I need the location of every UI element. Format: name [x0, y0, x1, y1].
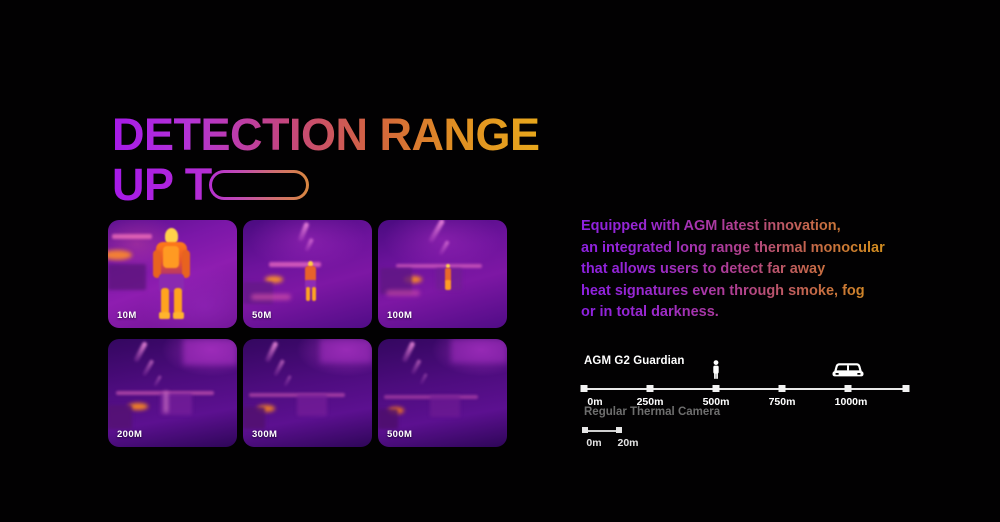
scale-title-regular: Regular Thermal Camera: [584, 406, 784, 418]
scale-tick: [647, 385, 654, 392]
headline-line-2-row: UP T: [112, 162, 542, 208]
cool-slab: [430, 395, 460, 417]
person-chest-hot: [163, 246, 179, 268]
description-line: that allows users to detect far away: [581, 259, 926, 281]
thermal-tile-label: 500M: [387, 429, 412, 440]
cool-slab: [243, 407, 265, 429]
range-value-capsule-inner: [212, 173, 306, 197]
sky-glow: [451, 339, 507, 363]
light-streak: [304, 238, 314, 252]
person-foot-left: [159, 312, 170, 319]
thermal-tile-label: 100M: [387, 310, 412, 321]
person-icon: [710, 360, 722, 384]
light-streak: [410, 359, 421, 375]
thermal-tile-label: 200M: [117, 429, 142, 440]
thermal-tile-label: 50M: [252, 310, 272, 321]
range-value-capsule-icon: [209, 170, 309, 200]
scale-tick-sub-label: 20m: [617, 437, 638, 449]
person-leg-right: [174, 288, 182, 314]
scale-tick: [713, 385, 720, 392]
description-line: or in total darkness.: [581, 302, 926, 324]
light-streak: [428, 220, 445, 244]
person-icon-svg: [710, 360, 722, 379]
description-line: Equipped with AGM latest innovation,: [581, 216, 926, 238]
scale-tick: [581, 385, 588, 392]
car-icon: [831, 359, 865, 384]
vertical-highlight: [164, 391, 168, 413]
scale-tick-sub: [616, 427, 622, 433]
thermal-tile[interactable]: 50M: [243, 220, 372, 328]
light-streak: [264, 341, 278, 363]
scale-ruler-sub-line: [584, 430, 620, 432]
page-headline: DETECTION RANGE UP T: [112, 112, 542, 208]
cool-slab: [297, 394, 327, 416]
thermal-tile-label: 300M: [252, 429, 277, 440]
description-line: heat signatures even through smoke, fog: [581, 281, 926, 303]
detection-range-scale: AGM G2 Guardian: [584, 355, 914, 401]
person-legs: [445, 280, 451, 290]
scale-tick-sub-label: 0m: [586, 437, 601, 449]
thermal-tile-label: 10M: [117, 310, 137, 321]
ground-highlight: [386, 290, 420, 296]
light-streak: [283, 375, 291, 387]
scale-ruler-sub: 0m 20m: [584, 425, 784, 441]
scale-tick: [845, 385, 852, 392]
scale-tick-label: 1000m: [835, 396, 868, 408]
car-icon-svg: [831, 359, 865, 379]
sky-glow: [183, 339, 237, 365]
thermal-tile[interactable]: 500M: [378, 339, 507, 447]
description-paragraph: Equipped with AGM latest innovation, an …: [581, 216, 926, 324]
scale-tick-sub: [582, 427, 588, 433]
cool-slab: [108, 264, 146, 290]
regular-camera-scale: Regular Thermal Camera 0m 20m: [584, 406, 784, 441]
light-streak: [153, 375, 162, 387]
thermal-tile[interactable]: 100M: [378, 220, 507, 328]
person-leg-left: [306, 287, 310, 301]
thermal-tile[interactable]: 300M: [243, 339, 372, 447]
light-streak: [419, 373, 427, 385]
light-streak: [401, 341, 415, 363]
person-arm-right: [182, 250, 190, 278]
sky-glow: [320, 339, 372, 363]
description-line: an integrated long range thermal monocul…: [581, 238, 926, 260]
light-streak: [438, 240, 449, 256]
cool-slab: [108, 405, 132, 429]
cool-slab: [378, 409, 398, 429]
scale-ruler-main: 0m 250m 500m 750m 1000m: [584, 377, 914, 401]
light-streak: [273, 359, 285, 377]
thermal-tile[interactable]: 200M: [108, 339, 237, 447]
scale-ruler-line: [584, 388, 906, 390]
light-streak: [133, 341, 148, 363]
cool-slab: [243, 282, 273, 304]
thermal-image-grid: 10M 50M: [108, 220, 507, 447]
heat-blob: [108, 250, 132, 260]
scale-tick: [903, 385, 910, 392]
person-leg-right: [312, 287, 316, 301]
heat-bar: [112, 234, 152, 239]
thermal-tile[interactable]: 10M: [108, 220, 237, 328]
light-streak: [297, 222, 309, 242]
headline-line-2-prefix: UP T: [112, 162, 212, 208]
scale-tick: [779, 385, 786, 392]
person-leg-left: [161, 288, 169, 314]
headline-line-1: DETECTION RANGE: [112, 112, 542, 158]
light-streak: [142, 359, 154, 377]
ground-highlight: [251, 294, 291, 300]
person-foot-right: [173, 312, 184, 319]
